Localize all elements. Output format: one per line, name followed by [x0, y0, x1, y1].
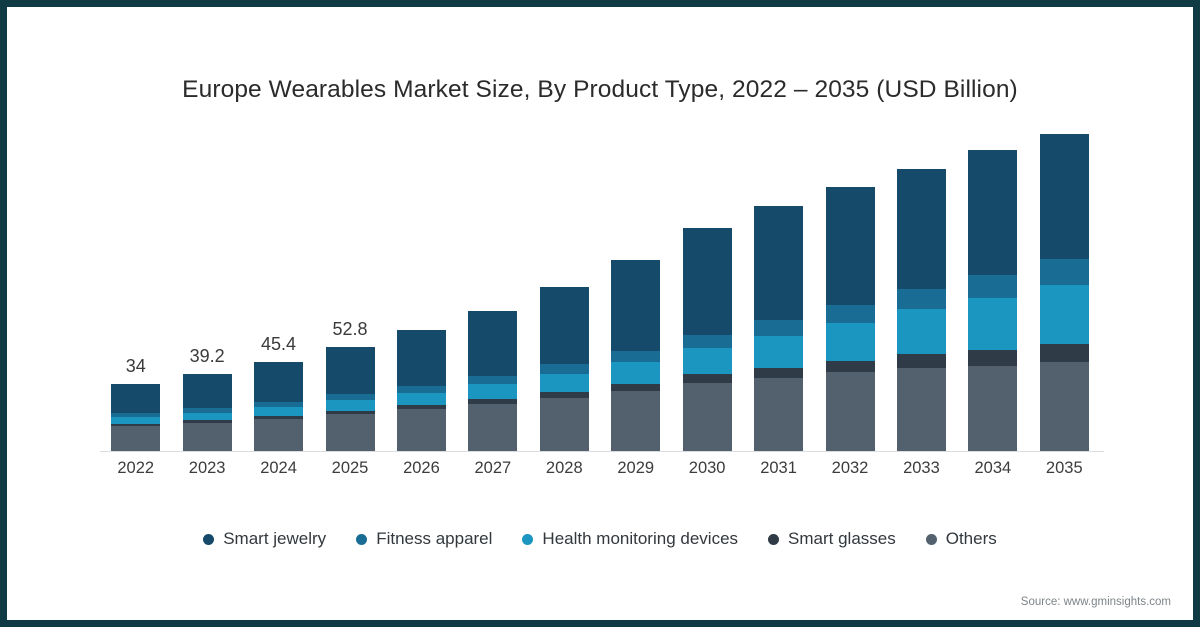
bar-group[interactable] — [754, 122, 803, 452]
bar-segment-fitness-apparel[interactable] — [683, 335, 732, 348]
stacked-bar[interactable] — [326, 347, 375, 452]
bar-segment-fitness-apparel[interactable] — [968, 275, 1017, 298]
legend-dot-icon — [768, 534, 779, 545]
frame-border-right — [1193, 0, 1200, 627]
bar-segment-health-monitoring-devices[interactable] — [183, 413, 232, 420]
bar-segment-smart-jewelry[interactable] — [254, 362, 303, 402]
bar-group[interactable] — [540, 122, 589, 452]
bar-segment-smart-jewelry[interactable] — [826, 187, 875, 305]
chart-legend: Smart jewelryFitness apparelHealth monit… — [7, 529, 1193, 549]
bar-segment-others[interactable] — [326, 414, 375, 452]
bar-segment-smart-glasses[interactable] — [968, 350, 1017, 366]
bar-segment-others[interactable] — [754, 378, 803, 452]
bar-segment-health-monitoring-devices[interactable] — [397, 393, 446, 406]
bar-segment-health-monitoring-devices[interactable] — [1040, 285, 1089, 344]
bar-segment-health-monitoring-devices[interactable] — [897, 309, 946, 354]
stacked-bar[interactable] — [254, 362, 303, 452]
stacked-bar[interactable] — [468, 311, 517, 453]
bar-segment-smart-jewelry[interactable] — [397, 330, 446, 385]
x-tick-2028: 2028 — [524, 459, 604, 478]
bar-segment-others[interactable] — [826, 372, 875, 452]
stacked-bar[interactable] — [968, 150, 1017, 452]
x-tick-2025: 2025 — [310, 459, 390, 478]
x-tick-2033: 2033 — [881, 459, 961, 478]
bar-group[interactable] — [611, 122, 660, 452]
stacked-bar[interactable] — [611, 260, 660, 452]
legend-dot-icon — [356, 534, 367, 545]
x-tick-2022: 2022 — [96, 459, 176, 478]
bar-segment-others[interactable] — [468, 404, 517, 452]
frame-border-left — [0, 0, 7, 627]
x-tick-2032: 2032 — [810, 459, 890, 478]
bar-segment-fitness-apparel[interactable] — [1040, 259, 1089, 285]
bar-segment-others[interactable] — [683, 383, 732, 452]
bar-segment-health-monitoring-devices[interactable] — [826, 323, 875, 361]
bar-segment-smart-jewelry[interactable] — [468, 311, 517, 376]
bar-group[interactable] — [897, 122, 946, 452]
bar-segment-smart-glasses[interactable] — [897, 354, 946, 368]
legend-item-smart-glasses[interactable]: Smart glasses — [768, 529, 896, 549]
bar-segment-smart-jewelry[interactable] — [683, 228, 732, 335]
bar-segment-health-monitoring-devices[interactable] — [540, 374, 589, 392]
bar-segment-others[interactable] — [1040, 362, 1089, 452]
stacked-bar[interactable] — [1040, 134, 1089, 452]
bar-segment-smart-glasses[interactable] — [611, 384, 660, 391]
bar-segment-fitness-apparel[interactable] — [754, 320, 803, 336]
x-tick-2034: 2034 — [953, 459, 1033, 478]
x-axis-line — [100, 451, 1104, 452]
chart-title: Europe Wearables Market Size, By Product… — [7, 76, 1193, 104]
bar-segment-others[interactable] — [611, 391, 660, 452]
legend-dot-icon — [203, 534, 214, 545]
legend-label: Health monitoring devices — [542, 529, 738, 549]
x-tick-2035: 2035 — [1024, 459, 1104, 478]
stacked-bar[interactable] — [897, 169, 946, 452]
chart-canvas: Europe Wearables Market Size, By Product… — [7, 7, 1193, 620]
stacked-bar[interactable] — [754, 206, 803, 452]
frame-border-top — [0, 0, 1200, 7]
stacked-bar[interactable] — [183, 374, 232, 452]
chart-page: Europe Wearables Market Size, By Product… — [0, 0, 1200, 627]
bar-segment-fitness-apparel[interactable] — [897, 289, 946, 309]
bar-segment-health-monitoring-devices[interactable] — [968, 298, 1017, 350]
bar-group[interactable] — [468, 122, 517, 452]
legend-label: Smart jewelry — [223, 529, 326, 549]
bar-segment-others[interactable] — [897, 368, 946, 452]
bar-segment-others[interactable] — [540, 398, 589, 452]
frame-border-bottom — [0, 620, 1200, 627]
stacked-bar[interactable] — [683, 228, 732, 452]
bar-segment-smart-jewelry[interactable] — [611, 260, 660, 351]
bar-segment-fitness-apparel[interactable] — [397, 386, 446, 393]
bar-segment-health-monitoring-devices[interactable] — [326, 400, 375, 411]
bar-segment-fitness-apparel[interactable] — [611, 351, 660, 362]
plot-area: 3439.245.452.8 — [100, 122, 1100, 452]
stacked-bar[interactable] — [397, 330, 446, 452]
bar-segment-smart-glasses[interactable] — [754, 368, 803, 378]
bar-group[interactable] — [683, 122, 732, 452]
stacked-bar[interactable] — [540, 287, 589, 452]
legend-item-smart-jewelry[interactable]: Smart jewelry — [203, 529, 326, 549]
bar-group[interactable] — [968, 122, 1017, 452]
bar-group[interactable] — [1040, 122, 1089, 452]
bar-group[interactable]: 39.2 — [183, 122, 232, 452]
bar-group[interactable]: 52.8 — [326, 122, 375, 452]
bar-segment-health-monitoring-devices[interactable] — [754, 336, 803, 368]
legend-item-fitness-apparel[interactable]: Fitness apparel — [356, 529, 492, 549]
bar-segment-smart-jewelry[interactable] — [540, 287, 589, 364]
bar-segment-smart-jewelry[interactable] — [968, 150, 1017, 275]
legend-label: Others — [946, 529, 997, 549]
x-tick-2030: 2030 — [667, 459, 747, 478]
bar-segment-others[interactable] — [111, 426, 160, 452]
x-tick-2023: 2023 — [167, 459, 247, 478]
x-tick-2029: 2029 — [596, 459, 676, 478]
bar-segment-smart-jewelry[interactable] — [897, 169, 946, 289]
bar-segment-smart-glasses[interactable] — [683, 374, 732, 383]
bar-segment-others[interactable] — [968, 366, 1017, 452]
bar-segment-smart-jewelry[interactable] — [1040, 134, 1089, 259]
x-tick-2026: 2026 — [381, 459, 461, 478]
bar-group[interactable]: 45.4 — [254, 122, 303, 452]
bar-segment-others[interactable] — [397, 409, 446, 452]
bar-segment-fitness-apparel[interactable] — [540, 364, 589, 374]
bar-segment-smart-glasses[interactable] — [826, 361, 875, 373]
legend-label: Smart glasses — [788, 529, 896, 549]
bar-segment-smart-jewelry[interactable] — [183, 374, 232, 408]
stacked-bar[interactable] — [111, 384, 160, 452]
legend-label: Fitness apparel — [376, 529, 492, 549]
bar-segment-smart-jewelry[interactable] — [326, 347, 375, 394]
x-tick-2024: 2024 — [239, 459, 319, 478]
bar-segment-smart-jewelry[interactable] — [111, 384, 160, 413]
bar-group[interactable]: 34 — [111, 122, 160, 452]
bar-segment-smart-jewelry[interactable] — [754, 206, 803, 321]
stacked-bar[interactable] — [826, 187, 875, 452]
x-tick-2031: 2031 — [739, 459, 819, 478]
legend-item-others[interactable]: Others — [926, 529, 997, 549]
x-tick-2027: 2027 — [453, 459, 533, 478]
legend-dot-icon — [926, 534, 937, 545]
bar-segment-fitness-apparel[interactable] — [468, 376, 517, 384]
bar-segment-fitness-apparel[interactable] — [826, 305, 875, 323]
source-attribution: Source: www.gminsights.com — [1021, 596, 1171, 608]
bar-segment-health-monitoring-devices[interactable] — [611, 362, 660, 384]
x-axis-tick-labels: 2022202320242025202620272028202920302031… — [100, 459, 1100, 485]
legend-item-health-monitoring-devices[interactable]: Health monitoring devices — [522, 529, 738, 549]
bar-segment-smart-glasses[interactable] — [1040, 344, 1089, 362]
bar-segment-health-monitoring-devices[interactable] — [254, 407, 303, 416]
bar-segment-health-monitoring-devices[interactable] — [468, 384, 517, 399]
bar-group[interactable] — [826, 122, 875, 452]
legend-dot-icon — [522, 534, 533, 545]
bar-value-label: 52.8 — [290, 319, 410, 340]
bar-segment-health-monitoring-devices[interactable] — [683, 348, 732, 374]
bar-group[interactable] — [397, 122, 446, 452]
bar-segment-others[interactable] — [183, 423, 232, 452]
bar-segment-others[interactable] — [254, 419, 303, 452]
